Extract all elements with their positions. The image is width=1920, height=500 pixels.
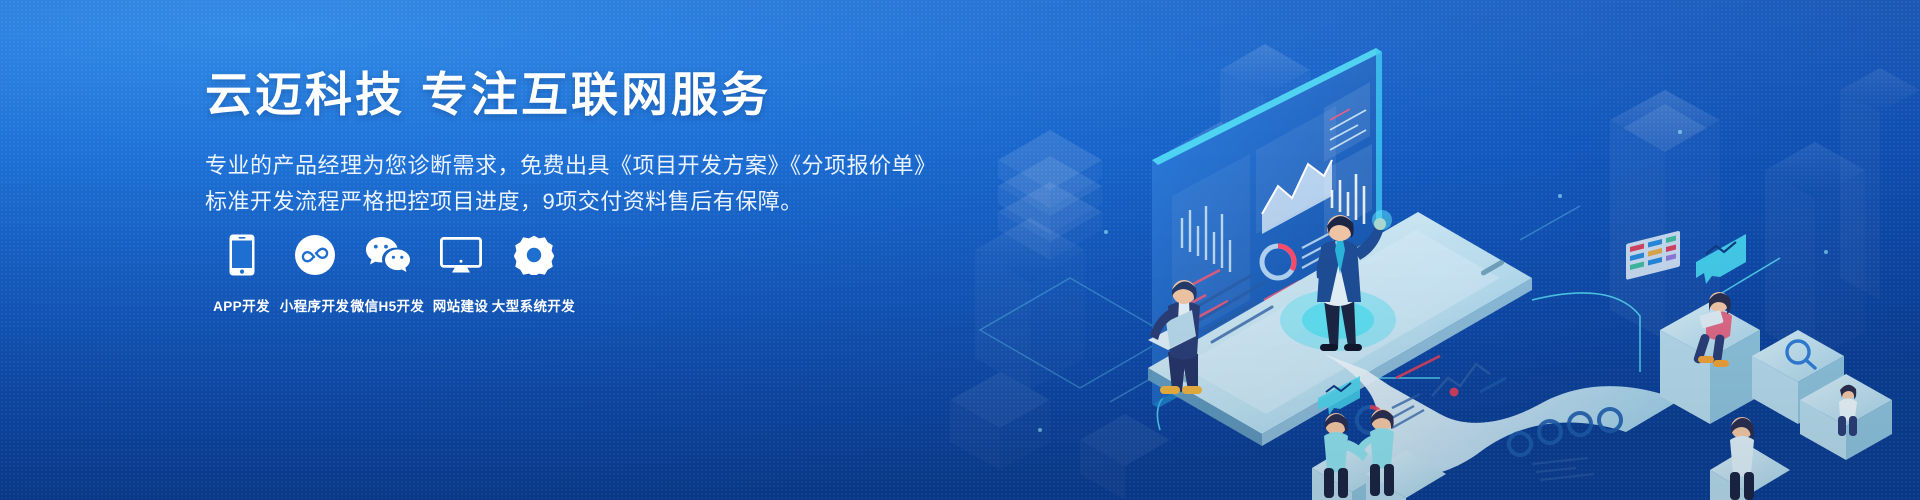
banner-subtitle-line-1: 专业的产品经理为您诊断需求，免费出具《项目开发方案》《分项报价单》 — [205, 148, 905, 184]
banner-subtitle-line-2: 标准开发流程严格把控项目进度，9项交付资料售后有保障。 — [205, 184, 905, 220]
service-label-website: 网站建设 — [433, 295, 489, 315]
hero-banner: 云迈科技 专注互联网服务 专业的产品经理为您诊断需求，免费出具《项目开发方案》《… — [0, 0, 1920, 500]
wechat-icon — [365, 228, 411, 282]
service-label-wechat-h5: 微信H5开发 — [351, 295, 425, 315]
monitor-icon — [440, 228, 482, 282]
service-item-miniprogram[interactable]: 小程序开发 — [278, 228, 351, 315]
banner-subtitle: 专业的产品经理为您诊断需求，免费出具《项目开发方案》《分项报价单》 标准开发流程… — [205, 148, 905, 219]
gear-icon — [514, 228, 554, 282]
banner-copy: 云迈科技 专注互联网服务 专业的产品经理为您诊断需求，免费出具《项目开发方案》《… — [205, 68, 905, 219]
service-item-wechat-h5[interactable]: 微信H5开发 — [351, 228, 424, 315]
service-label-miniprogram: 小程序开发 — [280, 295, 350, 315]
mini-program-icon — [295, 228, 335, 282]
service-label-app: APP开发 — [213, 295, 270, 315]
service-item-system[interactable]: 大型系统开发 — [497, 228, 570, 315]
mobile-phone-icon — [229, 228, 255, 282]
service-item-website[interactable]: 网站建设 — [424, 228, 497, 315]
isometric-illustration — [920, 0, 1920, 500]
service-icon-row: APP开发 小程序开发 — [205, 228, 570, 315]
service-item-app[interactable]: APP开发 — [205, 228, 278, 315]
service-label-system: 大型系统开发 — [492, 295, 575, 315]
banner-headline: 云迈科技 专注互联网服务 — [205, 68, 905, 122]
